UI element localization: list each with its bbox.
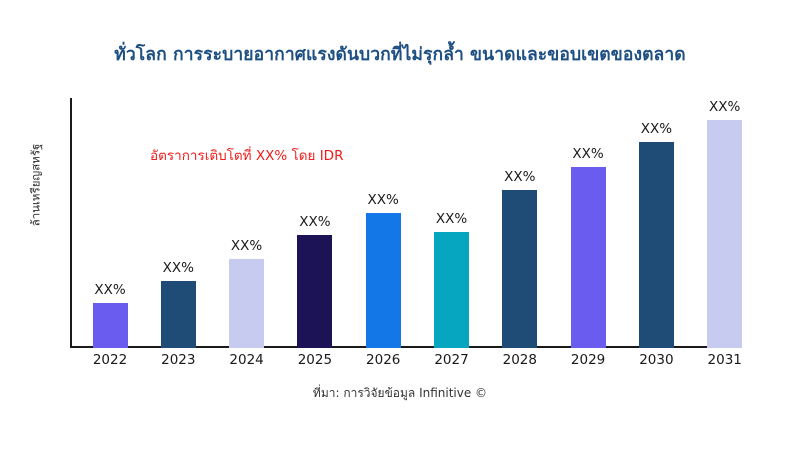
bar-group: XX% xyxy=(639,98,674,348)
bar-value-label: XX% xyxy=(368,192,399,208)
x-tick-2026: 2026 xyxy=(349,352,417,368)
bar-group: XX% xyxy=(366,98,401,348)
bar-group: XX% xyxy=(161,98,196,348)
x-axis-tick-labels: 2022202320242025202620272028202920302031 xyxy=(70,352,800,374)
bar[interactable] xyxy=(93,303,128,348)
x-tick-2031: 2031 xyxy=(691,352,759,368)
x-tick-2029: 2029 xyxy=(554,352,622,368)
bar-group: XX% xyxy=(93,98,128,348)
chart-title: ทั่วโลก การระบายอากาศแรงดันบวกที่ไม่รุกล… xyxy=(0,40,800,68)
bar-group: XX% xyxy=(502,98,537,348)
bar-value-label: XX% xyxy=(94,282,125,298)
bar-value-label: XX% xyxy=(572,146,603,162)
bar[interactable] xyxy=(502,190,537,348)
x-tick-2024: 2024 xyxy=(212,352,280,368)
plot-area: XX%XX%XX%XX%XX%XX%XX%XX%XX%XX% xyxy=(70,98,733,348)
x-tick-2023: 2023 xyxy=(144,352,212,368)
bars-layer: XX%XX%XX%XX%XX%XX%XX%XX%XX%XX% xyxy=(70,98,800,348)
bar-group: XX% xyxy=(297,98,332,348)
bar-value-label: XX% xyxy=(641,121,672,137)
chart-container: ทั่วโลก การระบายอากาศแรงดันบวกที่ไม่รุกล… xyxy=(0,0,800,450)
bar-value-label: XX% xyxy=(163,260,194,276)
bar[interactable] xyxy=(297,235,332,348)
source-caption: ที่มา: การวิจัยข้อมูล Infinitive © xyxy=(0,384,800,403)
bar-group: XX% xyxy=(229,98,264,348)
x-tick-2027: 2027 xyxy=(417,352,485,368)
x-tick-2022: 2022 xyxy=(76,352,144,368)
bar-value-label: XX% xyxy=(231,238,262,254)
bar-group: XX% xyxy=(434,98,469,348)
y-axis-label-container: ล้านเหรียญสหรัฐ xyxy=(24,100,48,270)
bar[interactable] xyxy=(161,281,196,348)
x-tick-2030: 2030 xyxy=(622,352,690,368)
x-tick-2025: 2025 xyxy=(281,352,349,368)
bar[interactable] xyxy=(639,142,674,348)
bar[interactable] xyxy=(434,232,469,348)
bar-group: XX% xyxy=(571,98,606,348)
bar-value-label: XX% xyxy=(504,169,535,185)
y-axis-label: ล้านเหรียญสหรัฐ xyxy=(27,144,45,227)
bar-value-label: XX% xyxy=(709,99,740,115)
bar-value-label: XX% xyxy=(299,214,330,230)
bar[interactable] xyxy=(571,167,606,348)
bar-value-label: XX% xyxy=(436,211,467,227)
bar[interactable] xyxy=(366,213,401,348)
bar-group: XX% xyxy=(707,98,742,348)
bar[interactable] xyxy=(707,120,742,348)
growth-rate-annotation: อัตราการเติบโตที่ XX% โดย IDR xyxy=(150,144,343,166)
x-tick-2028: 2028 xyxy=(486,352,554,368)
bar[interactable] xyxy=(229,259,264,348)
